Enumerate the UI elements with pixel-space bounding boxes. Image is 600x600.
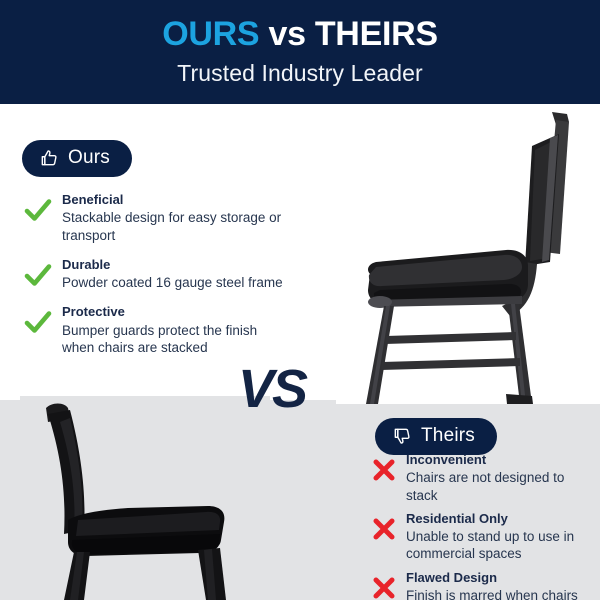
list-item-text: Durable Powder coated 16 gauge steel fra… (62, 257, 283, 292)
theirs-badge-label: Theirs (421, 425, 475, 447)
x-icon (370, 515, 398, 543)
ours-badge-label: Ours (68, 147, 110, 169)
list-item-desc: Powder coated 16 gauge steel frame (62, 274, 283, 291)
list-item-desc: Stackable design for easy storage or tra… (62, 209, 290, 244)
list-item-title: Inconvenient (406, 452, 598, 468)
theirs-badge: Theirs (375, 418, 497, 455)
thumbs-up-icon (39, 148, 59, 168)
list-item-title: Flawed Design (406, 570, 598, 586)
list-item-desc: Bumper guards protect the finish when ch… (62, 322, 290, 357)
padded-banquet-chair-photo (336, 104, 600, 404)
list-item-title: Durable (62, 257, 283, 273)
list-item-title: Residential Only (406, 511, 598, 527)
list-item: Protective Bumper guards protect the fin… (22, 304, 290, 356)
list-item-title: Beneficial (62, 192, 290, 208)
list-item-text: Inconvenient Chairs are not designed to … (406, 452, 598, 504)
page-title: OURS vs THEIRS (162, 17, 437, 53)
list-item-desc: Chairs are not designed to stack (406, 469, 598, 504)
ours-feature-list: Beneficial Stackable design for easy sto… (22, 192, 290, 369)
check-icon (22, 194, 54, 226)
check-icon (22, 306, 54, 338)
list-item-text: Beneficial Stackable design for easy sto… (62, 192, 290, 244)
list-item-text: Protective Bumper guards protect the fin… (62, 304, 290, 356)
list-item-title: Protective (62, 304, 290, 320)
check-icon (22, 259, 54, 291)
x-icon (370, 456, 398, 484)
list-item-text: Residential Only Unable to stand up to u… (406, 511, 598, 563)
page-subtitle: Trusted Industry Leader (177, 60, 423, 87)
black-plastic-chair-photo (20, 396, 270, 600)
vs-divider-label: VS (238, 362, 306, 416)
list-item: Flawed Design Finish is marred when chai… (370, 570, 598, 600)
thumbs-down-icon (392, 426, 412, 446)
theirs-feature-list: Inconvenient Chairs are not designed to … (370, 452, 598, 600)
list-item-desc: Unable to stand up to use in commercial … (406, 528, 598, 563)
list-item-text: Flawed Design Finish is marred when chai… (406, 570, 598, 600)
title-theirs: THEIRS (315, 15, 438, 53)
list-item-desc: Finish is marred when chairs are stacked (406, 587, 598, 600)
x-icon (370, 574, 398, 600)
comparison-infographic: OURS vs THEIRS Trusted Industry Leader (0, 0, 600, 600)
list-item: Durable Powder coated 16 gauge steel fra… (22, 257, 290, 292)
ours-badge: Ours (22, 140, 132, 177)
list-item: Residential Only Unable to stand up to u… (370, 511, 598, 563)
title-ours: OURS (162, 15, 259, 53)
list-item: Beneficial Stackable design for easy sto… (22, 192, 290, 244)
list-item: Inconvenient Chairs are not designed to … (370, 452, 598, 504)
header-banner: OURS vs THEIRS Trusted Industry Leader (0, 0, 600, 104)
title-vs: vs (268, 15, 305, 53)
